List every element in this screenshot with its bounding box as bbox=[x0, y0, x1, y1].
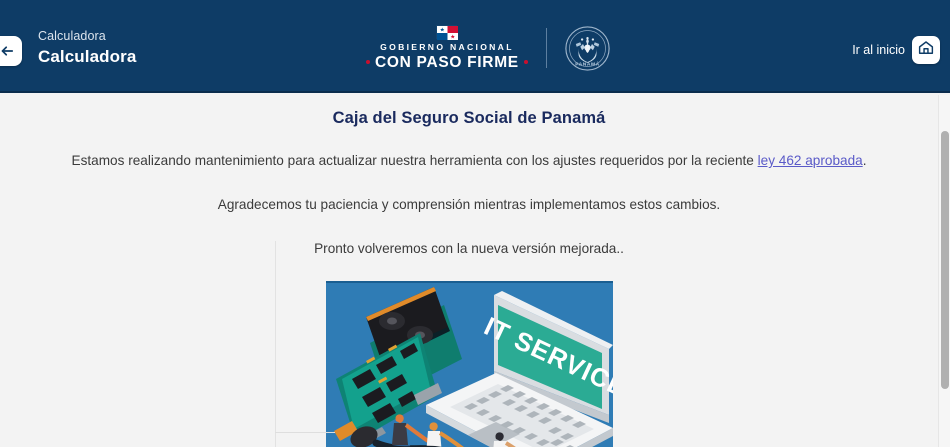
go-home-link[interactable]: Ir al inicio bbox=[852, 36, 940, 64]
maintenance-paragraph-2: Agradecemos tu paciencia y comprensión m… bbox=[0, 195, 938, 214]
maintenance-paragraph-3: Pronto volveremos con la nueva versión m… bbox=[0, 239, 938, 258]
go-home-label: Ir al inicio bbox=[852, 43, 905, 57]
red-dot-right-icon bbox=[524, 60, 528, 64]
scrollbar-track-top[interactable] bbox=[939, 95, 950, 131]
scrollbar-thumb[interactable] bbox=[941, 131, 949, 389]
vertical-scrollbar[interactable] bbox=[938, 95, 950, 447]
paragraph-1-text-after: . bbox=[863, 153, 867, 168]
content-left-edge-divider bbox=[275, 241, 276, 447]
ley-462-link[interactable]: ley 462 aprobada bbox=[758, 153, 863, 168]
main-content: Caja del Seguro Social de Panamá Estamos… bbox=[0, 95, 938, 447]
brand-line-con-paso-firme-wrap: CON PASO FIRME bbox=[366, 54, 528, 71]
content-title: Caja del Seguro Social de Panamá bbox=[0, 109, 938, 128]
it-service-isometric-illustration: IT SERVICE bbox=[326, 281, 613, 447]
panama-government-seal-icon: PANAMÁ bbox=[565, 26, 610, 71]
header-title-group: Calculadora Calculadora bbox=[38, 29, 136, 67]
breadcrumb: Calculadora bbox=[38, 29, 136, 45]
site-header: Calculadora Calculadora GOBIERNO NACIONA… bbox=[0, 0, 950, 93]
arrow-left-icon bbox=[0, 42, 16, 60]
paragraph-1-text-before: Estamos realizando mantenimiento para ac… bbox=[72, 153, 758, 168]
panama-flag-icon bbox=[436, 25, 457, 39]
brand-text-group: GOBIERNO NACIONAL CON PASO FIRME bbox=[366, 25, 528, 70]
home-icon bbox=[917, 39, 935, 62]
red-dot-left-icon bbox=[366, 60, 370, 64]
brand-divider bbox=[546, 28, 547, 68]
home-button[interactable] bbox=[912, 36, 940, 64]
government-brand-block: GOBIERNO NACIONAL CON PASO FIRME bbox=[366, 24, 610, 72]
illustration-svg: IT SERVICE bbox=[326, 283, 613, 447]
brand-line-con-paso-firme: CON PASO FIRME bbox=[375, 54, 519, 71]
back-button[interactable] bbox=[0, 36, 22, 66]
maintenance-paragraph-1: Estamos realizando mantenimiento para ac… bbox=[0, 151, 938, 170]
content-bottom-edge-divider bbox=[275, 432, 335, 433]
brand-line-gobierno-nacional: GOBIERNO NACIONAL bbox=[380, 42, 514, 52]
calculadora-maintenance-page: Calculadora Calculadora GOBIERNO NACIONA… bbox=[0, 0, 950, 447]
page-title: Calculadora bbox=[38, 46, 136, 67]
